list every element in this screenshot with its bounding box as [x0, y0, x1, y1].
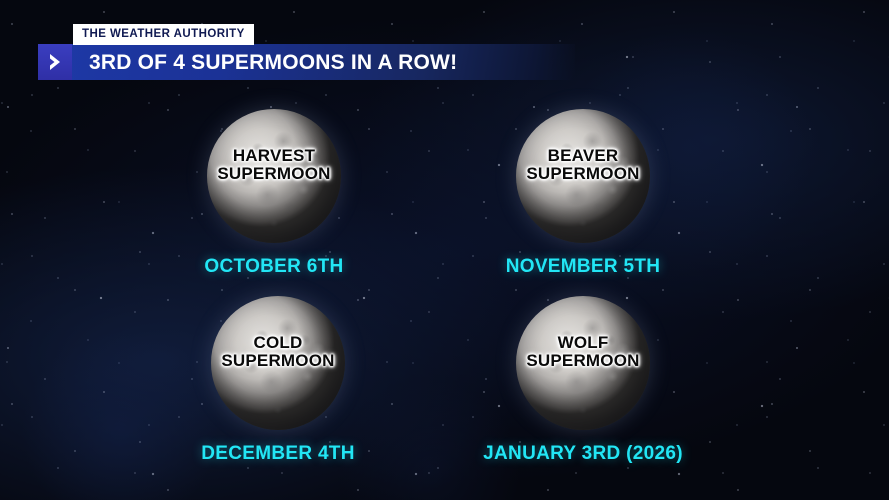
moon-date-label: JANUARY 3RD (2026) — [483, 443, 683, 464]
headline-title: 3RD OF 4 SUPERMOONS IN A ROW! — [89, 52, 457, 73]
moon-card-harvest: HARVEST SUPERMOON — [207, 109, 341, 243]
moon-shading — [207, 109, 341, 243]
full-moon-icon: BEAVER SUPERMOON — [516, 109, 650, 243]
moon-date-beaver: NOVEMBER 5TH — [483, 257, 683, 277]
full-moon-icon: HARVEST SUPERMOON — [207, 109, 341, 243]
moon-card-wolf: WOLF SUPERMOON — [516, 296, 650, 430]
headline-text-wrap: 3RD OF 4 SUPERMOONS IN A ROW! — [72, 44, 575, 80]
weather-graphic-slide: THE WEATHER AUTHORITY 3RD OF 4 SUPERMOON… — [0, 0, 889, 500]
moon-shading — [516, 109, 650, 243]
full-moon-icon: COLD SUPERMOON — [211, 296, 345, 430]
headline-bar: 3RD OF 4 SUPERMOONS IN A ROW! — [38, 44, 575, 80]
full-moon-icon: WOLF SUPERMOON — [516, 296, 650, 430]
brand-badge-label: THE WEATHER AUTHORITY — [82, 29, 245, 41]
moon-shading — [211, 296, 345, 430]
moon-date-label: NOVEMBER 5TH — [506, 256, 661, 277]
moon-shading — [516, 296, 650, 430]
moon-card-beaver: BEAVER SUPERMOON — [516, 109, 650, 243]
moon-date-wolf: JANUARY 3RD (2026) — [473, 444, 693, 464]
brand-badge: THE WEATHER AUTHORITY — [73, 24, 254, 45]
moon-card-cold: COLD SUPERMOON — [211, 296, 345, 430]
moon-date-label: OCTOBER 6TH — [204, 256, 343, 277]
moon-date-cold: DECEMBER 4TH — [178, 444, 378, 464]
moon-date-harvest: OCTOBER 6TH — [174, 257, 374, 277]
chevron-right-icon — [38, 44, 72, 80]
moon-date-label: DECEMBER 4TH — [201, 443, 355, 464]
